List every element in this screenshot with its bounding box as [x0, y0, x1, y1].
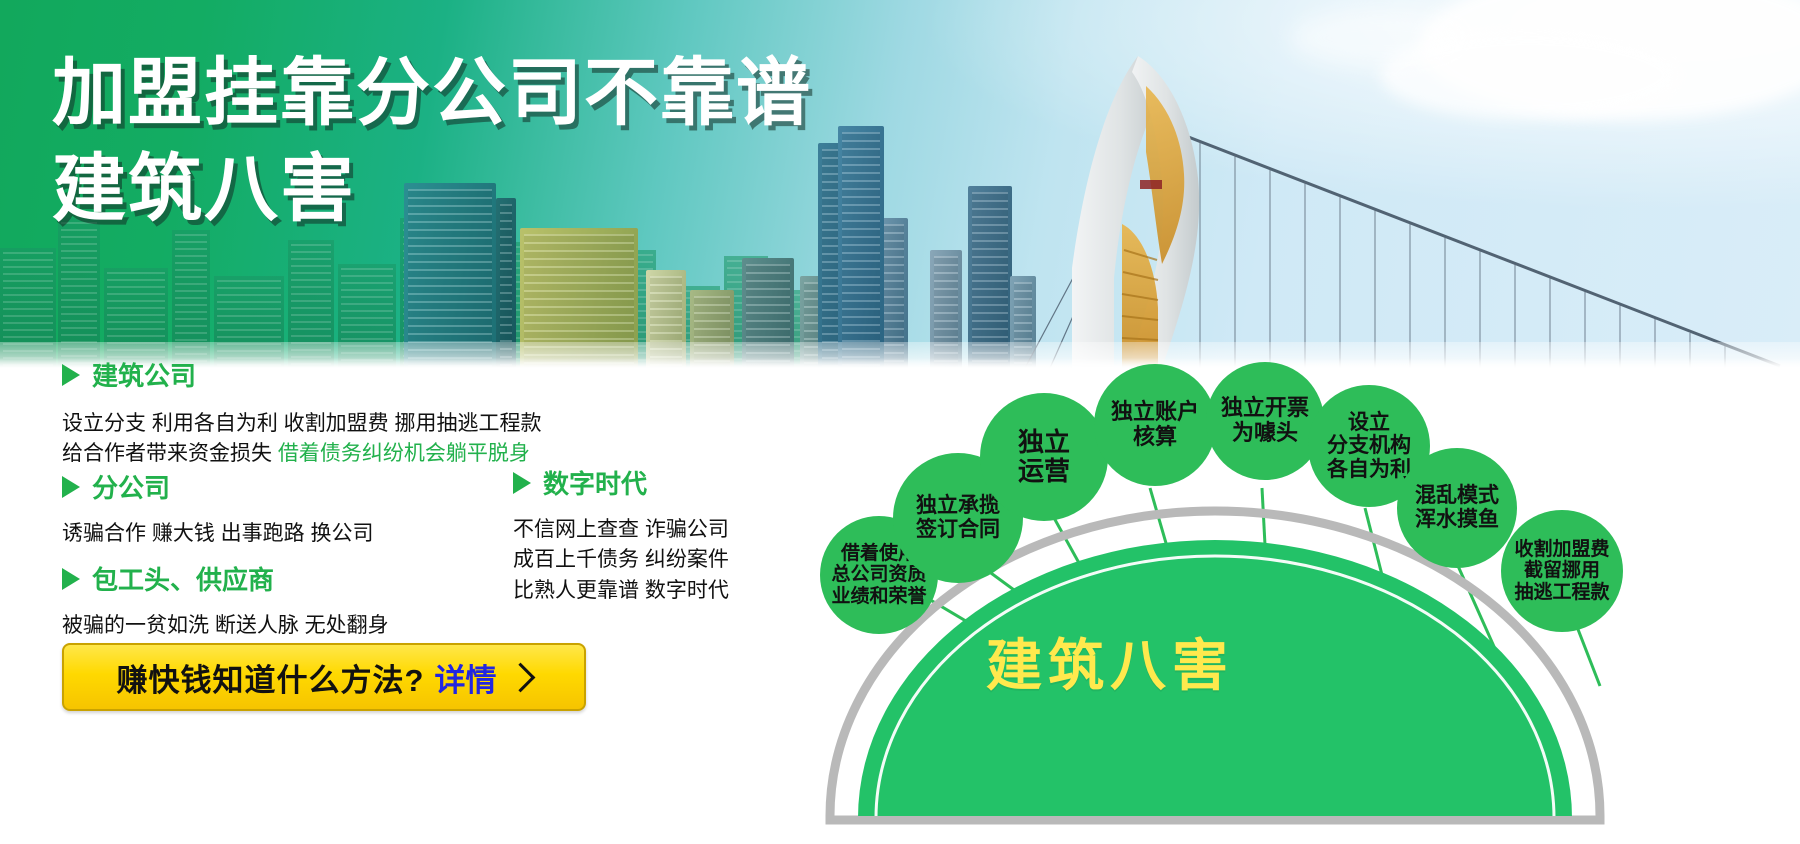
bubble-3[interactable]: 独立 运营	[980, 393, 1108, 521]
bubble-label: 独立开票 为噱头	[1221, 396, 1309, 445]
left-content-panel: 建筑公司 设立分支 利用各自为利 收割加盟费 挪用抽逃工程款 给合作者带来资金损…	[0, 368, 800, 844]
section-body-line: 设立分支 利用各自为利 收割加盟费 挪用抽逃工程款	[62, 409, 542, 439]
body-text-accent: 借着债务纠纷机会躺平脱身	[278, 442, 530, 465]
section-heading-label: 包工头、供应商	[92, 560, 274, 597]
hero-title-line1: 加盟挂靠分公司不靠谱	[52, 56, 812, 130]
hero-title-group: 加盟挂靠分公司不靠谱 建筑八害	[52, 56, 812, 226]
poster-root: 加盟挂靠分公司不靠谱 建筑八害 建筑公司 设立分支 利用各自为利 收割加盟费 挪…	[0, 0, 1800, 844]
bubble-5[interactable]: 独立开票 为噱头	[1206, 362, 1324, 480]
chevron-right-icon	[506, 662, 536, 692]
section-heading-branch-company: 分公司	[62, 468, 374, 505]
section-branch-company: 分公司 诱骗合作 赚大钱 出事跑路 换公司	[62, 468, 374, 549]
section-digital-era: 数字时代 不信网上查查 诈骗公司 成百上千债务 纠纷案件 比熟人更靠谱 数字时代	[513, 464, 729, 606]
bubble-7[interactable]: 混乱模式 浑水摸鱼	[1397, 448, 1517, 568]
section-body-line: 成百上千债务 纠纷案件	[513, 545, 729, 575]
section-heading-label: 数字时代	[543, 464, 647, 501]
section-heading-contractor-supplier: 包工头、供应商	[62, 560, 389, 597]
section-heading-digital-era: 数字时代	[513, 464, 729, 501]
body-text: 给合作者带来资金损失	[62, 442, 278, 465]
bubble-label: 独立账户 核算	[1111, 400, 1199, 449]
section-heading-label: 分公司	[92, 468, 170, 505]
section-body-line: 比熟人更靠谱 数字时代	[513, 576, 729, 606]
triangle-bullet-icon	[513, 472, 531, 494]
bubble-label: 独立承揽 签订合同	[916, 494, 1000, 541]
section-body-line: 诱骗合作 赚大钱 出事跑路 换公司	[62, 519, 374, 549]
body-text: 设立分支 利用各自为利 收割加盟费 挪用抽逃工程款	[62, 412, 542, 435]
cta-button[interactable]: 赚快钱知道什么方法? 详情	[62, 643, 586, 711]
section-heading-construction-company: 建筑公司	[62, 356, 542, 393]
triangle-bullet-icon	[62, 364, 80, 386]
section-body-line: 给合作者带来资金损失 借着债务纠纷机会躺平脱身	[62, 439, 542, 469]
tower-building	[838, 126, 884, 368]
dome-title: 建筑八害	[986, 621, 1234, 702]
section-body-line: 不信网上查查 诈骗公司	[513, 515, 729, 545]
bubble-label: 独立 运营	[1018, 428, 1070, 486]
section-heading-label: 建筑公司	[92, 356, 196, 393]
hero-banner: 加盟挂靠分公司不靠谱 建筑八害	[0, 0, 1800, 368]
bubble-label: 收割加盟费 截留挪用 抽逃工程款	[1514, 539, 1609, 603]
cta-detail-link[interactable]: 详情	[434, 655, 496, 700]
hero-title-line2: 建筑八害	[52, 152, 812, 226]
bubble-8[interactable]: 收割加盟费 截留挪用 抽逃工程款	[1501, 510, 1623, 632]
section-contractor-supplier: 包工头、供应商 被骗的一贫如洗 断送人脉 无处翻身	[62, 560, 389, 641]
dome-diagram: 借着使用 总公司资质 业绩和荣誉 独立承揽 签订合同 独立 运营 独立账户 核算…	[800, 368, 1800, 844]
bridge-illustration	[1010, 28, 1800, 368]
triangle-bullet-icon	[62, 568, 80, 590]
bubble-label: 混乱模式 浑水摸鱼	[1415, 484, 1499, 531]
section-body-line: 被骗的一贫如洗 断送人脉 无处翻身	[62, 611, 389, 641]
triangle-bullet-icon	[62, 476, 80, 498]
bubble-4[interactable]: 独立账户 核算	[1094, 364, 1216, 486]
bubble-label: 设立 分支机构 各自为利	[1327, 411, 1411, 482]
cta-main-label: 赚快钱知道什么方法?	[117, 655, 425, 700]
tower-building	[968, 186, 1012, 368]
dome-baseline	[830, 816, 1600, 821]
section-construction-company: 建筑公司 设立分支 利用各自为利 收割加盟费 挪用抽逃工程款 给合作者带来资金损…	[62, 356, 542, 470]
